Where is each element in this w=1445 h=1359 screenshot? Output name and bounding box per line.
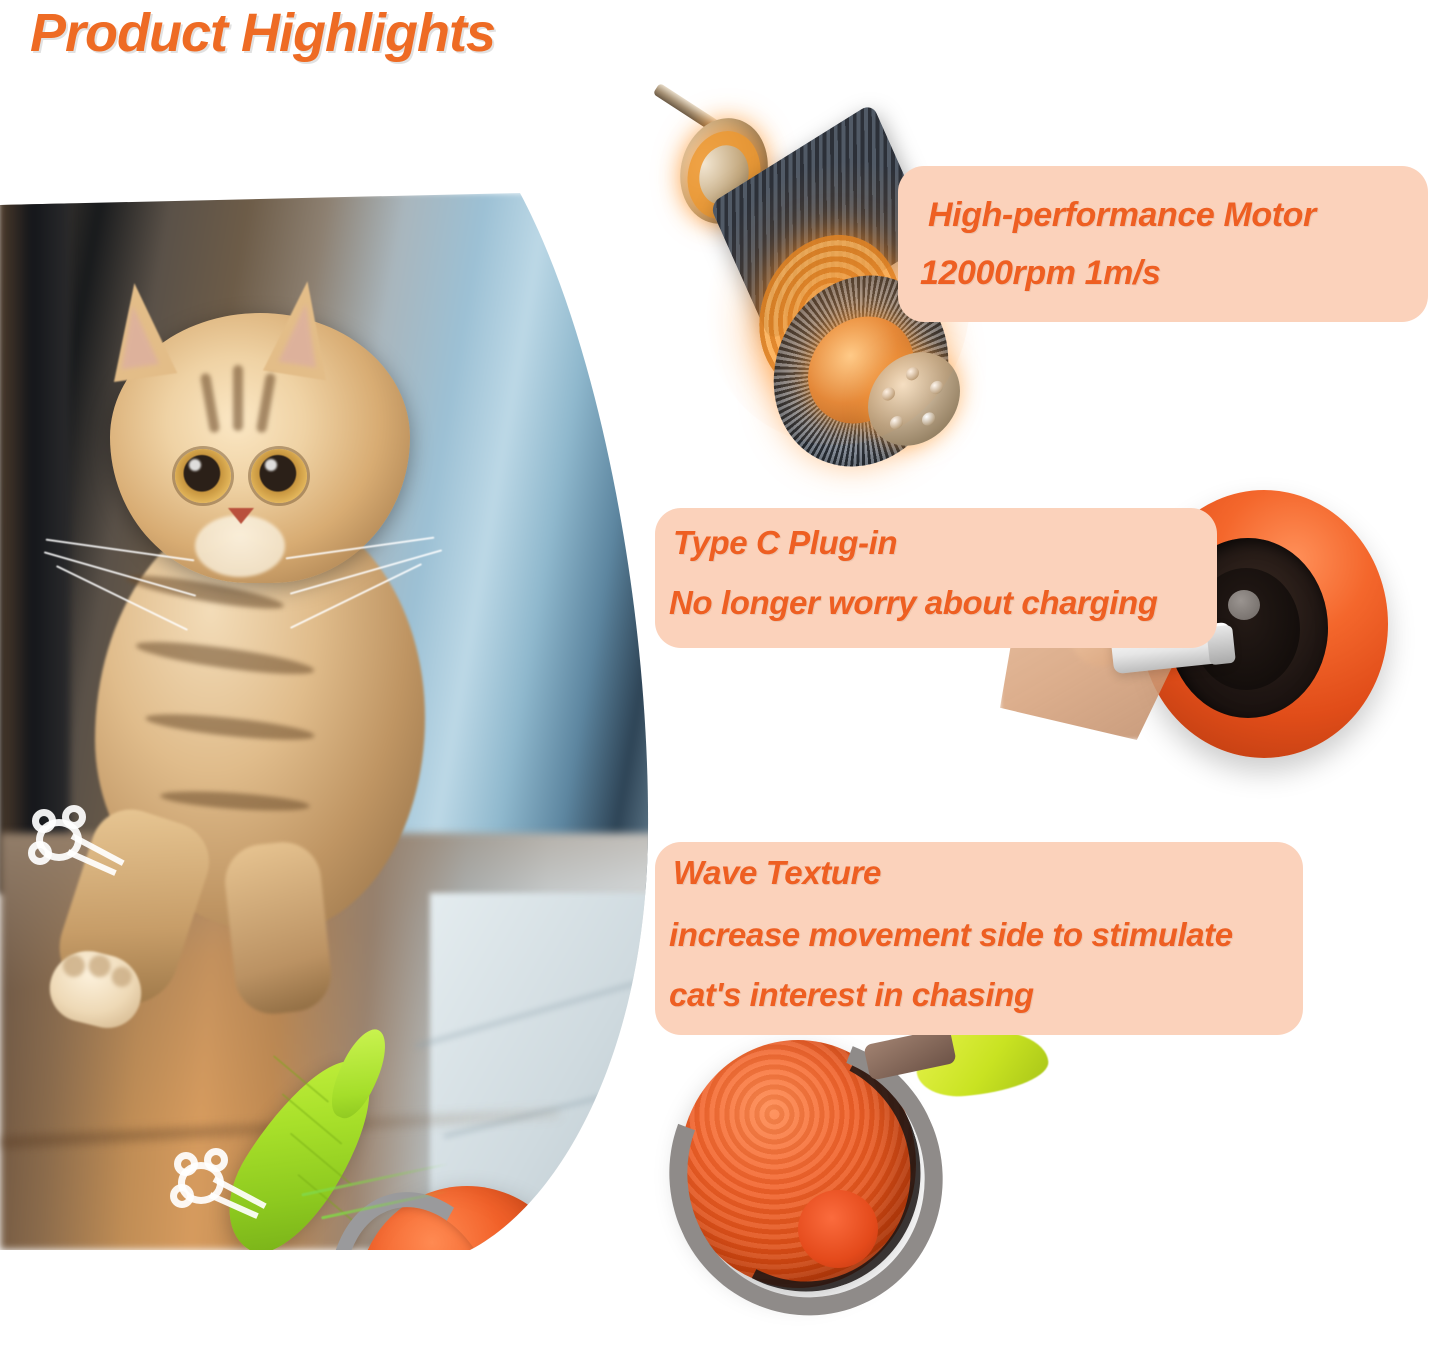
callout-type-c-plug-in: Type C Plug-in No longer worry about cha… xyxy=(655,508,1217,648)
cat-muzzle xyxy=(195,515,285,577)
page-title: Product Highlights xyxy=(30,2,495,64)
callout-wave-texture: Wave Texture increase movement side to s… xyxy=(655,842,1303,1035)
callout-motor-line-1: High-performance Motor xyxy=(928,196,1316,235)
cat xyxy=(55,253,485,953)
callout-wave-line-1: Wave Texture xyxy=(673,854,881,892)
wave-texture-image xyxy=(670,1022,1070,1288)
cat-nose xyxy=(228,508,254,524)
charging-port-contact xyxy=(1228,590,1260,620)
callout-typec-line-1: Type C Plug-in xyxy=(673,524,897,562)
cat-hind-leg xyxy=(221,838,334,1017)
callout-motor-line-2: 12000rpm 1m/s xyxy=(920,254,1161,293)
cat-eye-left xyxy=(175,449,231,503)
wave-ball-power-button xyxy=(798,1190,878,1268)
callout-wave-line-2: increase movement side to stimulate xyxy=(669,916,1233,954)
lifestyle-photo xyxy=(0,193,660,1250)
callout-typec-line-2: No longer worry about charging xyxy=(669,584,1158,622)
callout-high-performance-motor: High-performance Motor 12000rpm 1m/s xyxy=(898,166,1428,322)
callout-wave-line-3: cat's interest in chasing xyxy=(669,976,1034,1014)
cat-eye-right xyxy=(251,449,307,503)
